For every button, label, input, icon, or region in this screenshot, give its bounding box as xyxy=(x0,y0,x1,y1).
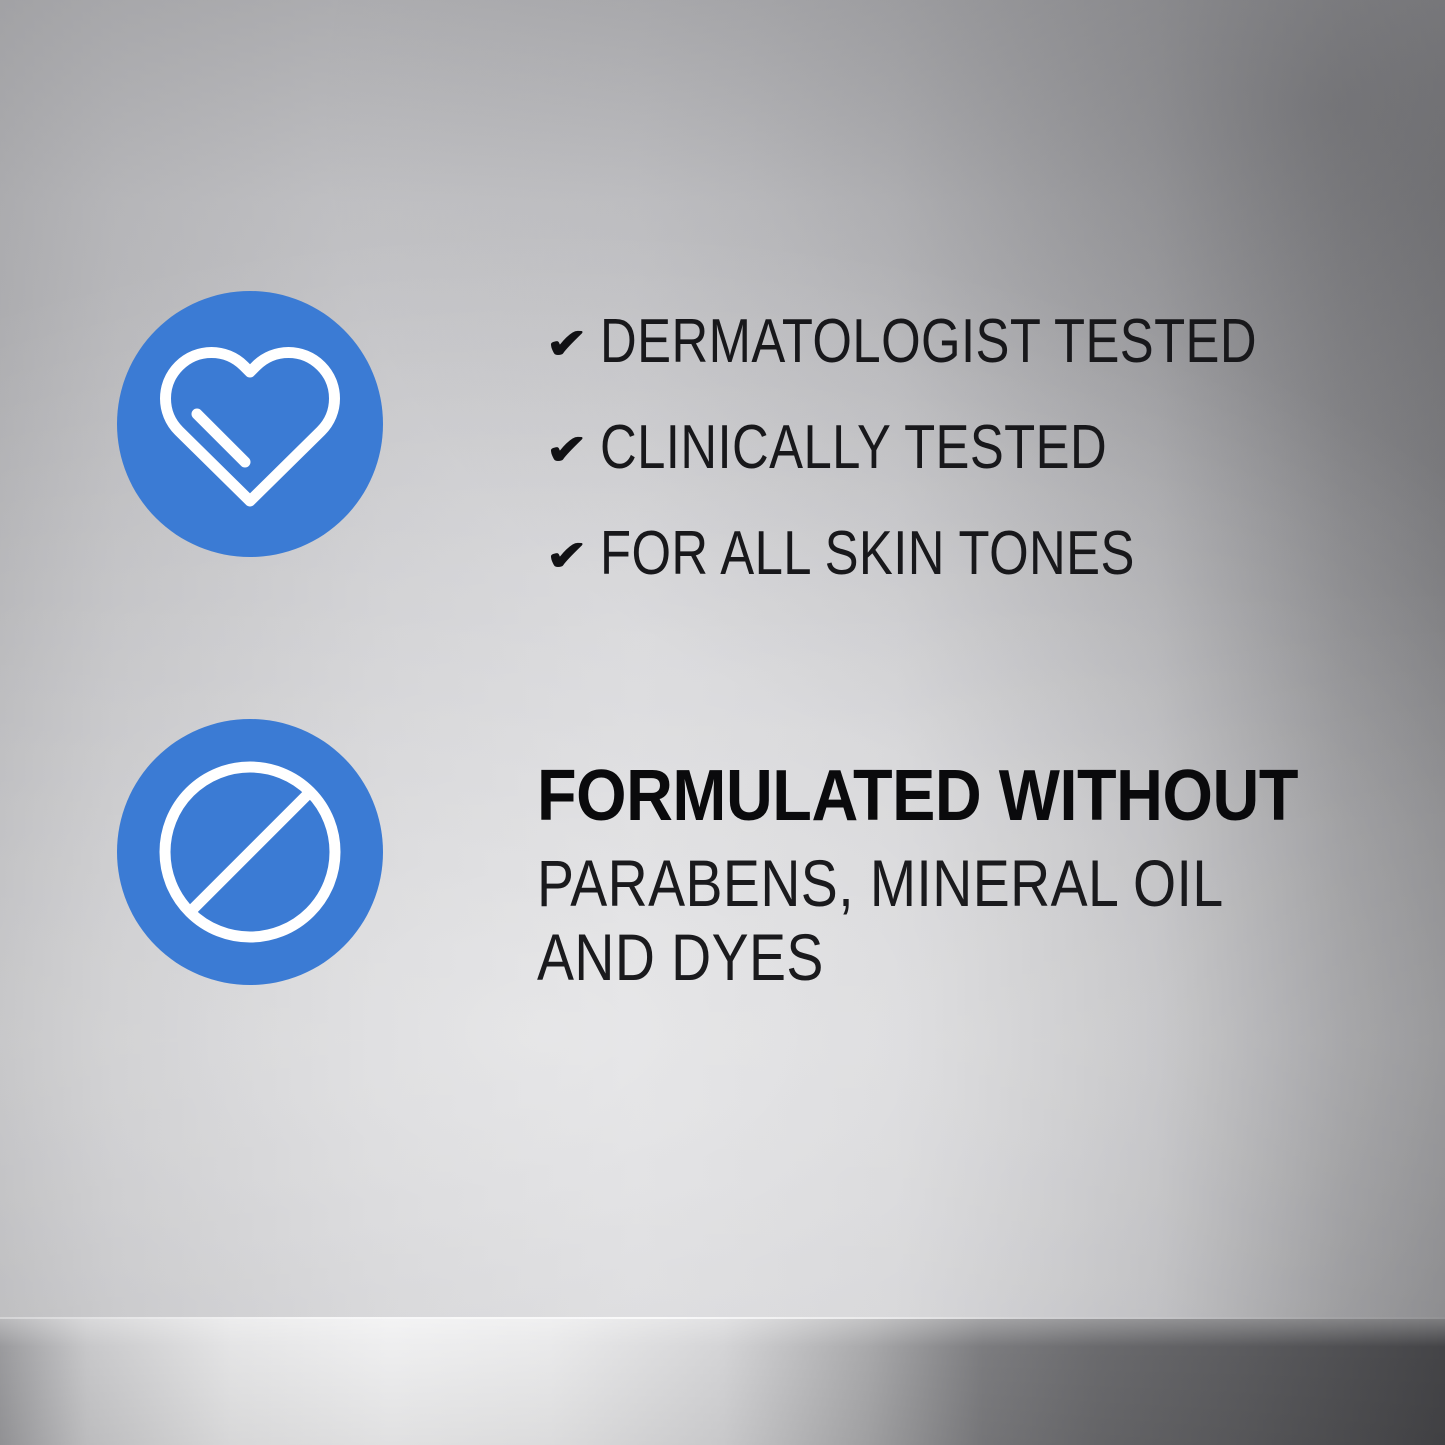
heart-icon xyxy=(157,336,343,512)
formulated-without-line: AND DYES xyxy=(537,921,1259,995)
formulated-without-block: FORMULATED WITHOUT PARABENS, MINERAL OIL… xyxy=(537,760,1397,995)
formulated-without-heading: FORMULATED WITHOUT xyxy=(537,760,1311,833)
formulated-without-line: PARABENS, MINERAL OIL xyxy=(537,847,1259,921)
claim-label: CLINICALLY TESTED xyxy=(600,417,1107,479)
claim-label: FOR ALL SKIN TONES xyxy=(600,523,1135,585)
claim-item-dermatologist-tested: ✔ DERMATOLOGIST TESTED xyxy=(546,289,1406,395)
product-claims-panel: ✔ DERMATOLOGIST TESTED ✔ CLINICALLY TEST… xyxy=(0,0,1445,1445)
no-symbol-icon-badge xyxy=(117,719,383,985)
claim-item-clinically-tested: ✔ CLINICALLY TESTED xyxy=(546,395,1406,501)
claim-item-for-all-skin-tones: ✔ FOR ALL SKIN TONES xyxy=(546,501,1406,607)
no-symbol-icon xyxy=(155,757,345,947)
heart-icon-badge xyxy=(117,291,383,557)
claim-label: DERMATOLOGIST TESTED xyxy=(600,311,1257,373)
bottom-reflective-band xyxy=(0,1319,1445,1445)
claims-list: ✔ DERMATOLOGIST TESTED ✔ CLINICALLY TEST… xyxy=(546,289,1406,607)
background-sheen xyxy=(0,0,1445,1322)
